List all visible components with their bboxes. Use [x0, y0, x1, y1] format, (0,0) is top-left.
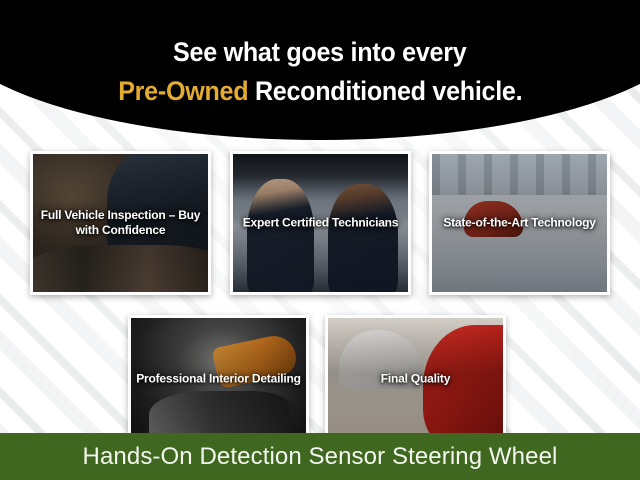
card-photo-technology: State-of-the-Art Technology: [432, 154, 607, 292]
bottom-banner-text: Hands-On Detection Sensor Steering Wheel: [83, 443, 558, 471]
card-caption: Full Vehicle Inspection – Buy with Confi…: [33, 208, 208, 238]
promo-graphic: See what goes into every Pre-Owned Recon…: [0, 0, 640, 480]
headline-rest-text: Reconditioned vehicle.: [248, 76, 522, 106]
feature-card-technology[interactable]: State-of-the-Art Technology: [429, 151, 610, 295]
header-banner: See what goes into every Pre-Owned Recon…: [0, 0, 640, 140]
headline-line-1: See what goes into every: [173, 38, 466, 67]
headline-line-2: Pre-Owned Reconditioned vehicle.: [118, 77, 522, 106]
feature-card-final-quality[interactable]: Final Quality: [325, 315, 506, 443]
bottom-banner: Hands-On Detection Sensor Steering Wheel: [0, 433, 640, 480]
feature-card-inspection[interactable]: Full Vehicle Inspection – Buy with Confi…: [30, 151, 211, 295]
card-photo-technicians: Expert Certified Technicians: [233, 154, 408, 292]
card-photo-final-quality: Final Quality: [328, 318, 503, 440]
card-caption: State-of-the-Art Technology: [432, 216, 607, 231]
headline-accent-text: Pre-Owned: [118, 76, 248, 106]
feature-card-detailing[interactable]: Professional Interior Detailing: [128, 315, 309, 443]
feature-card-technicians[interactable]: Expert Certified Technicians: [230, 151, 411, 295]
card-caption: Final Quality: [328, 372, 503, 387]
card-caption: Professional Interior Detailing: [131, 372, 306, 387]
card-photo-inspection: Full Vehicle Inspection – Buy with Confi…: [33, 154, 208, 292]
card-photo-detailing: Professional Interior Detailing: [131, 318, 306, 440]
card-caption: Expert Certified Technicians: [233, 216, 408, 231]
